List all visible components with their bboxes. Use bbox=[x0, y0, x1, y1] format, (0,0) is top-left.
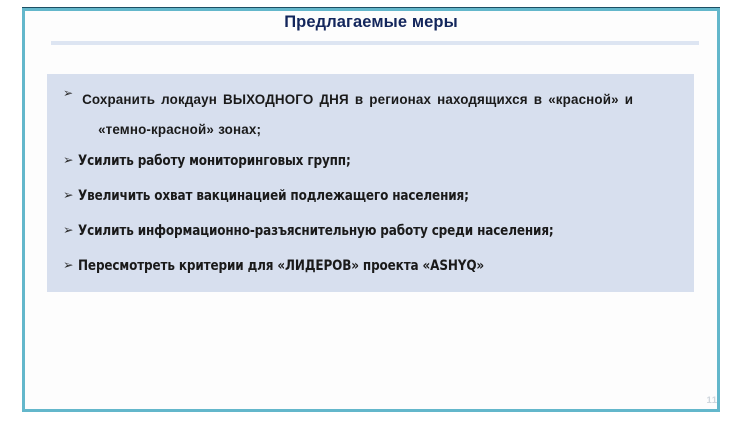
list-item: ➢ Увеличить охват вакцинацией подлежащег… bbox=[63, 187, 685, 206]
list-item-line-2: «темно-красной» зонах; bbox=[98, 115, 685, 145]
title-area: Предлагаемые меры bbox=[25, 11, 717, 41]
list-item: ➢ Усилить работу мониторинговых групп; bbox=[63, 152, 685, 171]
content-box: ➢ Сохранить локдаун ВЫХОДНОГО ДНЯ в реги… bbox=[47, 74, 694, 292]
slide: Предлагаемые меры ➢ Сохранить локдаун ВЫ… bbox=[0, 0, 740, 425]
list-item-text: Сохранить локдаун ВЫХОДНОГО ДНЯ в регион… bbox=[82, 85, 685, 145]
arrow-bullet-icon: ➢ bbox=[63, 85, 73, 101]
arrow-bullet-icon: ➢ bbox=[63, 257, 73, 272]
arrow-bullet-icon: ➢ bbox=[63, 187, 73, 202]
list-item: ➢ Пересмотреть критерии для «ЛИДЕРОВ» пр… bbox=[63, 257, 685, 276]
page-number: 11 bbox=[700, 395, 724, 406]
list-item-text: Пересмотреть критерии для «ЛИДЕРОВ» прое… bbox=[78, 257, 657, 276]
title-underline-rule bbox=[51, 41, 699, 45]
list-item-line-1: Сохранить локдаун ВЫХОДНОГО ДНЯ в регион… bbox=[82, 92, 633, 107]
page-title: Предлагаемые меры bbox=[25, 13, 717, 32]
list-item: ➢ Сохранить локдаун ВЫХОДНОГО ДНЯ в реги… bbox=[63, 85, 685, 145]
list-item: ➢ Усилить информационно-разъяснительную … bbox=[63, 222, 685, 241]
arrow-bullet-icon: ➢ bbox=[63, 222, 73, 237]
bullet-list: ➢ Сохранить локдаун ВЫХОДНОГО ДНЯ в реги… bbox=[47, 74, 694, 292]
list-item-text: Увеличить охват вакцинацией подлежащего … bbox=[78, 187, 657, 206]
list-item-text: Усилить информационно-разъяснительную ра… bbox=[78, 222, 657, 241]
list-item-text: Усилить работу мониторинговых групп; bbox=[78, 152, 657, 171]
arrow-bullet-icon: ➢ bbox=[63, 152, 73, 167]
